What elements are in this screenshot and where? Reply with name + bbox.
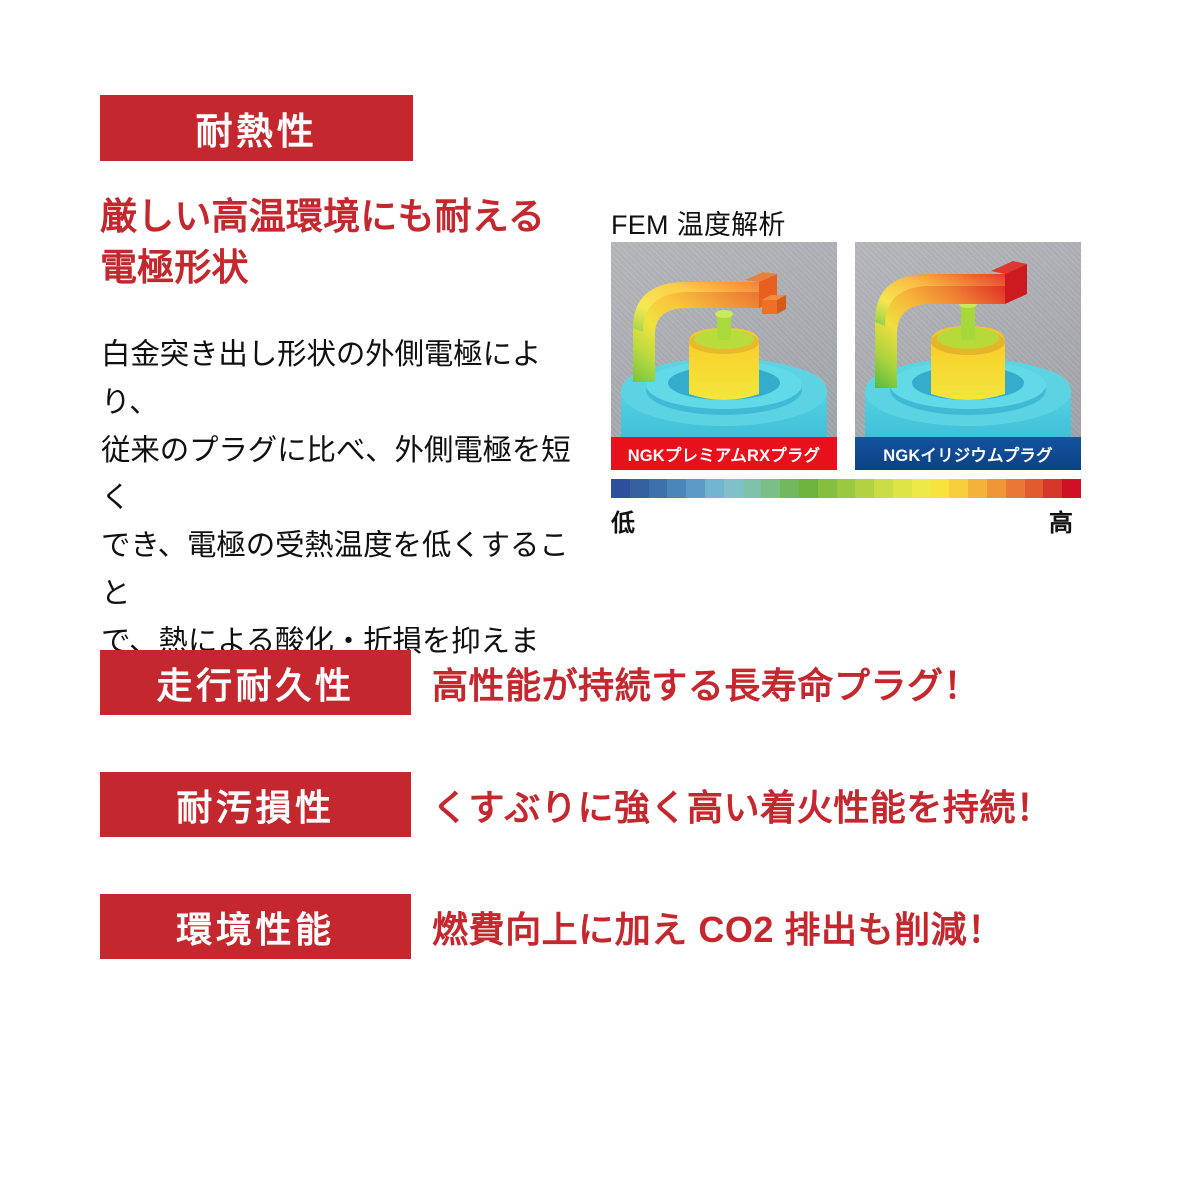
heat-resistance-subheading-line2: 電極形状 (100, 242, 570, 293)
fem-thermal-render-premium-rx (611, 242, 837, 470)
feature-row-fouling-resistance: 耐汚損性 くすぶりに強く高い着火性能を持続！ (100, 772, 1100, 838)
fem-scale-band-2 (649, 479, 668, 498)
heat-resistance-subheading-line1: 厳しい高温環境にも耐える (100, 191, 570, 242)
fem-scale-band-11 (818, 479, 837, 498)
fem-scale-band-22 (1025, 479, 1044, 498)
fem-scale-band-24 (1062, 479, 1081, 498)
fem-color-scale (611, 479, 1081, 498)
fem-scale-band-8 (761, 479, 780, 498)
feature-text-fouling-resistance: くすぶりに強く高い着火性能を持続！ (432, 772, 1052, 837)
fem-panel-premium-rx: NGKプレミアムRXプラグ (611, 242, 837, 470)
fem-scale-band-20 (987, 479, 1006, 498)
fem-analysis-title: FEM 温度解析 (611, 203, 786, 242)
feature-text-durability: 高性能が持続する長寿命プラグ！ (432, 650, 980, 715)
fem-scale-band-7 (743, 479, 762, 498)
fem-scale-band-17 (931, 479, 950, 498)
fem-scale-band-4 (686, 479, 705, 498)
feature-badge-durability-label: 走行耐久性 (156, 657, 354, 709)
fem-caption-iridium: NGKイリジウムプラグ (855, 437, 1081, 470)
fem-scale-band-5 (705, 479, 724, 498)
fem-scale-high-label: 高 (1049, 503, 1073, 538)
fem-scale-band-13 (855, 479, 874, 498)
fem-panel-iridium: NGKイリジウムプラグ (855, 242, 1081, 470)
fem-scale-band-9 (780, 479, 799, 498)
fem-scale-band-16 (912, 479, 931, 498)
heat-resistance-body-line3: でき、電極の受熱温度を低くすること (101, 522, 586, 618)
fem-scale-band-19 (968, 479, 987, 498)
fem-scale-band-23 (1043, 479, 1062, 498)
fem-caption-iridium-label: NGKイリジウムプラグ (883, 442, 1053, 466)
fem-caption-premium-rx: NGKプレミアムRXプラグ (611, 437, 837, 470)
feature-badge-environmental: 環境性能 (100, 894, 411, 959)
feature-row-environmental: 環境性能 燃費向上に加え CO2 排出も削減！ (100, 894, 1100, 960)
fem-thermal-render-iridium (855, 242, 1081, 470)
fem-scale-band-3 (667, 479, 686, 498)
heat-resistance-badge-label: 耐熱性 (195, 101, 317, 155)
feature-badge-environmental-label: 環境性能 (176, 901, 334, 953)
fem-scale-band-14 (874, 479, 893, 498)
feature-text-environmental: 燃費向上に加え CO2 排出も削減！ (432, 894, 1004, 959)
fem-scale-band-1 (630, 479, 649, 498)
fem-scale-band-10 (799, 479, 818, 498)
heat-resistance-badge: 耐熱性 (100, 95, 413, 161)
fem-scale-band-12 (837, 479, 856, 498)
feature-badge-fouling-resistance-label: 耐汚損性 (176, 779, 334, 831)
feature-badge-fouling-resistance: 耐汚損性 (100, 772, 411, 837)
fem-scale-band-15 (893, 479, 912, 498)
feature-row-durability: 走行耐久性 高性能が持続する長寿命プラグ！ (100, 650, 1100, 716)
fem-scale-low-label: 低 (611, 503, 635, 538)
fem-analysis-panels: NGKプレミアムRXプラグ (611, 242, 1081, 470)
fem-scale-band-0 (611, 479, 630, 498)
heat-resistance-body-line1: 白金突き出し形状の外側電極により、 (101, 331, 586, 427)
heat-resistance-body-line2: 従来のプラグに比べ、外側電極を短く (101, 427, 586, 523)
fem-scale-band-6 (724, 479, 743, 498)
fem-caption-premium-rx-label: NGKプレミアムRXプラグ (628, 442, 821, 466)
heat-resistance-subheading: 厳しい高温環境にも耐える 電極形状 (100, 191, 570, 293)
fem-scale-band-21 (1006, 479, 1025, 498)
fem-scale-band-18 (949, 479, 968, 498)
feature-badge-durability: 走行耐久性 (100, 650, 411, 715)
